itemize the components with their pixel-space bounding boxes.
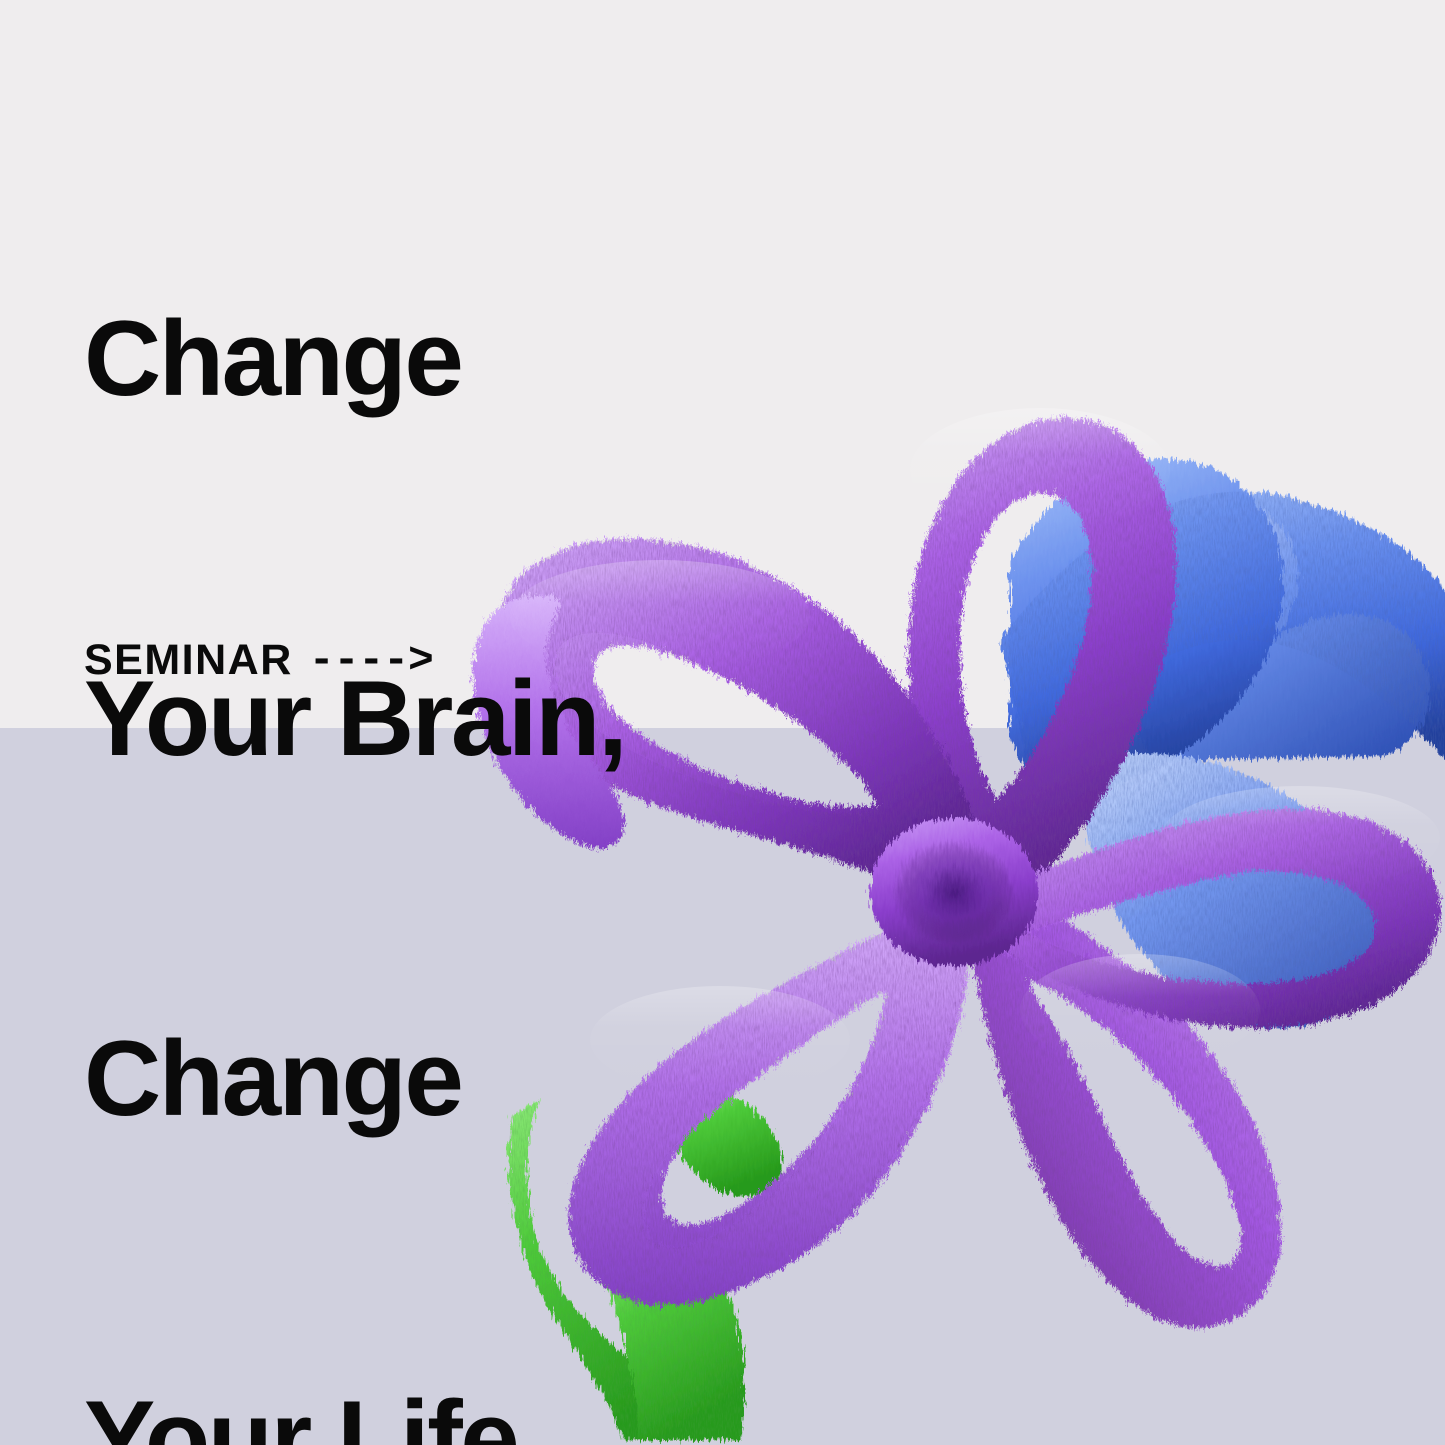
headline-line-1: Change xyxy=(84,298,625,418)
flower-core xyxy=(870,818,1038,966)
seminar-label: SEMINAR xyxy=(84,636,293,685)
headline-line-4: Your Life. xyxy=(84,1378,625,1445)
petal-lower-left-sweep-strands xyxy=(569,904,968,1306)
poster-canvas: Change Your Brain, Change Your Life. SEM… xyxy=(0,0,1445,1445)
page-title: Change Your Brain, Change Your Life. xyxy=(84,58,625,1445)
headline-line-3: Change xyxy=(84,1018,625,1138)
arrow-right-icon: ----> xyxy=(309,639,433,682)
seminar-cta[interactable]: SEMINAR ----> xyxy=(84,636,433,685)
